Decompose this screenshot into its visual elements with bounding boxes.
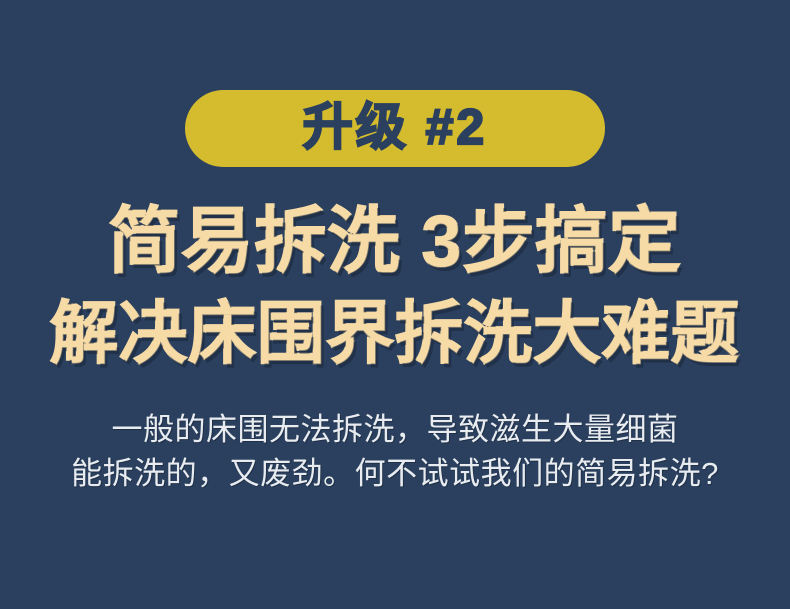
body-line-1: 一般的床围无法拆洗，导致滋生大量细菌 [0, 408, 790, 452]
headline-line-1: 简易拆洗 3步搞定 [0, 206, 790, 278]
body-copy-block: 一般的床围无法拆洗，导致滋生大量细菌 能拆洗的，又废劲。何不试试我们的简易拆洗? [0, 408, 790, 496]
upgrade-badge-label: 升级 #2 [303, 102, 488, 152]
promo-poster: 升级 #2 简易拆洗 3步搞定 解决床围界拆洗大难题 一般的床围无法拆洗，导致滋… [0, 0, 790, 609]
headline-block: 简易拆洗 3步搞定 解决床围界拆洗大难题 [0, 206, 790, 368]
headline-line-2: 解决床围界拆洗大难题 [0, 300, 790, 368]
upgrade-badge: 升级 #2 [185, 90, 605, 167]
body-line-2: 能拆洗的，又废劲。何不试试我们的简易拆洗? [0, 452, 790, 496]
badge-container: 升级 #2 [0, 90, 790, 167]
